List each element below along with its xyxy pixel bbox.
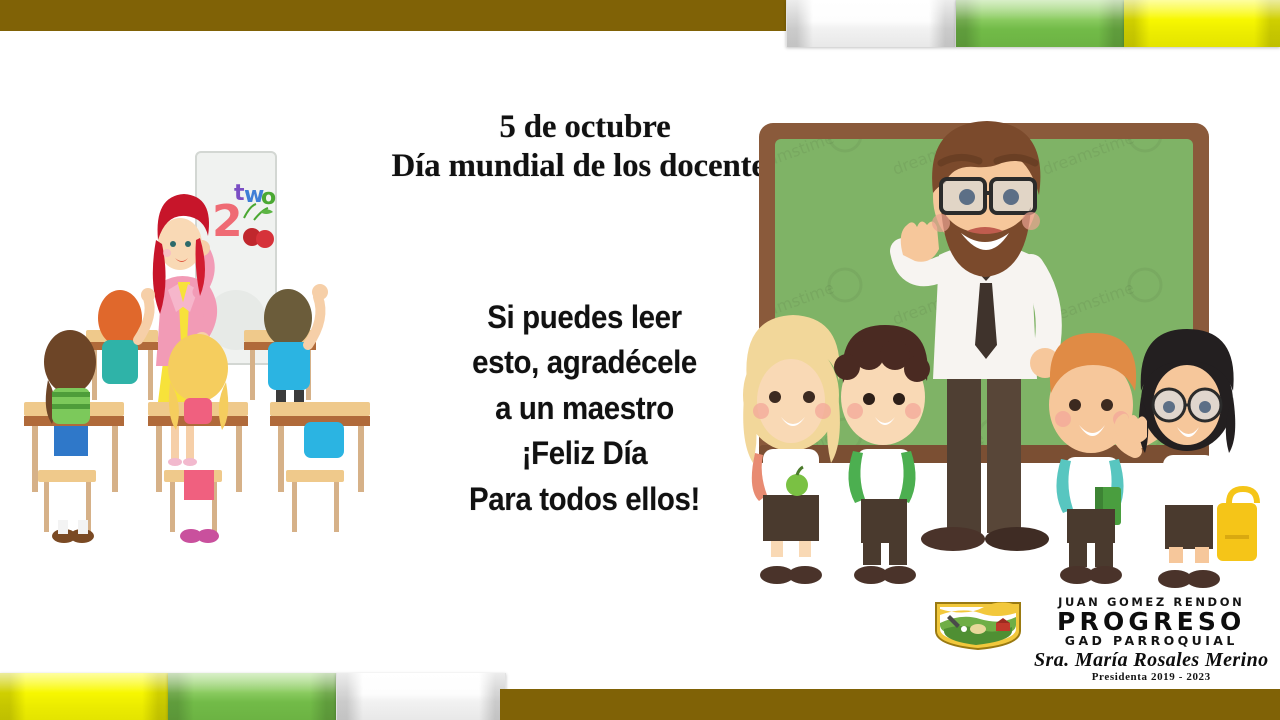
footer-branding: JUAN GOMEZ RENDON PROGRESO GAD PARROQUIA…	[930, 597, 1262, 679]
message-line-2: esto, agradécele	[444, 340, 725, 385]
org-line-3: GAD PARROQUIAL	[1034, 634, 1269, 648]
top-yellow-bar	[1124, 0, 1280, 47]
org-line-2: PROGRESO	[1034, 609, 1269, 635]
gratitude-message: Si puedes leer esto, agradécele a un mae…	[432, 295, 737, 522]
teacher-students-illustration: dreamstime	[735, 105, 1265, 600]
student-blue-shirt-right	[304, 422, 344, 458]
top-left-olive-band	[0, 0, 786, 31]
message-line-3: a un maestro	[444, 386, 725, 431]
top-white-bar	[786, 0, 956, 47]
footer-text-block: JUAN GOMEZ RENDON PROGRESO GAD PARROQUIA…	[1034, 597, 1269, 684]
bottom-right-olive-band	[500, 689, 1280, 720]
progreso-coat-of-arms-icon	[930, 599, 1026, 651]
student-dark-hair	[264, 284, 328, 422]
svg-text:o: o	[261, 185, 276, 210]
president-signature: Sra. María Rosales Merino	[1034, 650, 1269, 671]
classroom-illustration: 2 t w o	[8, 140, 398, 590]
slide-canvas: 2 t w o	[0, 0, 1280, 720]
message-line-4: ¡Feliz Día	[444, 431, 725, 476]
bottom-yellow-bar	[0, 673, 168, 720]
president-role: Presidenta 2019 - 2023	[1034, 671, 1269, 684]
event-heading: 5 de octubre Día mundial de los docentes	[385, 108, 785, 186]
message-line-1: Si puedes leer	[444, 295, 725, 340]
top-green-bar	[956, 0, 1124, 47]
bottom-green-bar	[168, 673, 336, 720]
bottom-white-bar	[336, 673, 506, 720]
message-line-5: Para todos ellos!	[444, 477, 725, 522]
heading-line-1: 5 de octubre	[385, 108, 785, 147]
heading-line-2: Día mundial de los docentes	[385, 147, 785, 186]
